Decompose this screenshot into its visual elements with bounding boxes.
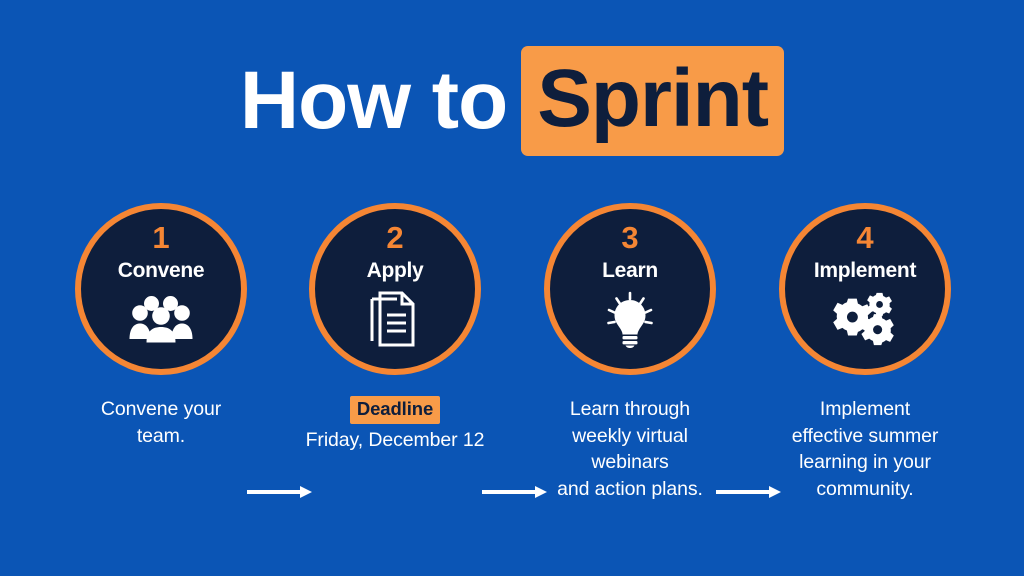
step-1-number: 1 [152,222,169,253]
documents-icon [363,290,427,348]
caption-line: community. [747,476,983,503]
caption-line: effective summer [747,423,983,450]
caption-line: team. [43,423,279,450]
deadline-badge: Deadline [350,396,440,424]
step-4-implement[interactable]: 4 Implement [747,203,983,379]
step-2-apply[interactable]: 2 Apply [277,203,513,379]
gears-icon [833,290,897,348]
caption-step-4: Implement effective summer learning in y… [747,396,983,502]
page-title: How toSprint [0,46,1024,156]
step-2-label: Apply [367,260,424,281]
caption-line: Friday, December 12 [277,427,513,454]
caption-line: weekly virtual [512,423,748,450]
step-4-label: Implement [814,260,916,281]
page-title-highlight: Sprint [521,46,784,156]
step-2-circle[interactable]: 2 Apply [309,203,481,375]
page-title-plain: How to [240,55,507,146]
step-4-circle[interactable]: 4 Implement [779,203,951,375]
step-3-circle[interactable]: 3 Learn [544,203,716,375]
people-group-icon [129,290,193,348]
caption-line: webinars [512,449,748,476]
step-3-number: 3 [621,222,638,253]
arrow-step1-to-step2 [247,485,313,499]
step-1-circle[interactable]: 1 Convene [75,203,247,375]
step-2-number: 2 [386,222,403,253]
caption-step-2: Deadline Friday, December 12 [277,396,513,453]
step-3-label: Learn [602,260,658,281]
step-4-number: 4 [856,222,873,253]
caption-step-3: Learn through weekly virtual webinars an… [512,396,748,502]
step-3-learn[interactable]: 3 Learn [512,203,748,379]
caption-line: Convene your [43,396,279,423]
caption-line: learning in your [747,449,983,476]
step-1-convene[interactable]: 1 Convene [43,203,279,379]
lightbulb-icon [598,290,662,348]
caption-line: Learn through [512,396,748,423]
caption-step-1: Convene your team. [43,396,279,449]
step-1-label: Convene [118,260,205,281]
caption-line: and action plans. [512,476,748,503]
caption-line: Implement [747,396,983,423]
steps-row: 1 Convene 2 Apply [0,203,1024,383]
